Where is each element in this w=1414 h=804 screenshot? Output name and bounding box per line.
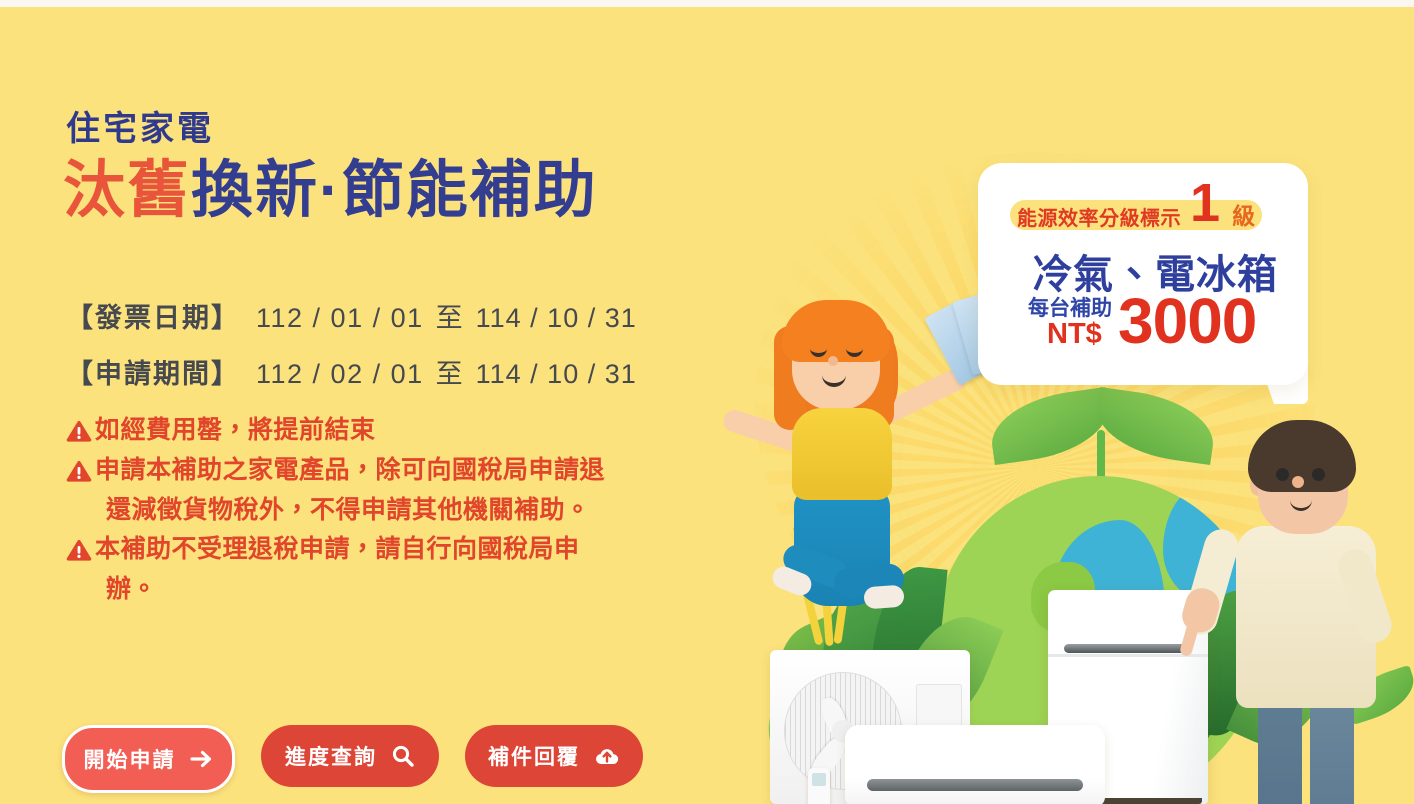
date-info-block: 【發票日期】112 / 01 / 01至114 / 10 / 31 【申請期間】… bbox=[66, 296, 637, 408]
warning-note-2-text: 申請本補助之家電產品，除可向國稅局申請退 bbox=[95, 453, 605, 489]
warning-triangle-icon bbox=[66, 539, 92, 562]
invoice-date-start: 112 / 01 / 01 bbox=[256, 303, 424, 333]
warning-note-3: 本補助不受理退稅申請，請自行向國稅局申 bbox=[66, 532, 726, 568]
page-title: 汰舊換新·節能補助 bbox=[63, 158, 598, 223]
page-title-navy: 換新·節能補助 bbox=[191, 156, 598, 225]
warning-note-2: 申請本補助之家電產品，除可向國稅局申請退 bbox=[66, 453, 726, 489]
application-period-label: 【申請期間】 bbox=[66, 359, 240, 389]
application-period-start: 112 / 02 / 01 bbox=[256, 359, 424, 389]
search-icon bbox=[391, 744, 415, 768]
start-application-label: 開始申請 bbox=[84, 744, 176, 774]
arrow-right-icon bbox=[190, 749, 214, 769]
supplement-reply-button[interactable]: 補件回覆 bbox=[465, 725, 643, 787]
invoice-date-row: 【發票日期】112 / 01 / 01至114 / 10 / 31 bbox=[66, 296, 637, 335]
cloud-upload-icon bbox=[594, 745, 620, 767]
standing-man-illustration bbox=[1198, 416, 1414, 804]
supplement-reply-label: 補件回覆 bbox=[488, 741, 580, 771]
warning-note-3-continued: 辦。 bbox=[66, 572, 726, 608]
page-title-red: 汰舊 bbox=[63, 156, 191, 225]
illustration-scene bbox=[700, 0, 1414, 804]
air-conditioner-indoor-unit bbox=[845, 725, 1105, 804]
warning-note-2-continued-text: 還減徵貨物稅外，不得申請其他機關補助。 bbox=[106, 493, 591, 529]
progress-inquiry-button[interactable]: 進度查詢 bbox=[261, 725, 439, 787]
energy-grade-label: 能源效率分級標示 bbox=[1017, 202, 1181, 231]
warning-triangle-icon bbox=[66, 460, 92, 483]
banner-stage: 能源效率分級標示 1 級 冷氣、電冰箱 每台補助 NT$ 3000 住宅家電 汰… bbox=[0, 0, 1414, 804]
warning-note-2-continued: 還減徵貨物稅外，不得申請其他機關補助。 bbox=[66, 493, 726, 529]
start-application-button[interactable]: 開始申請 bbox=[62, 725, 235, 793]
invoice-date-separator: 至 bbox=[436, 303, 464, 333]
energy-grade-number: 1 bbox=[1190, 176, 1220, 230]
application-period-end: 114 / 10 / 31 bbox=[476, 359, 637, 389]
action-button-row: 開始申請 進度查詢 補件回覆 bbox=[62, 725, 643, 793]
invoice-date-end: 114 / 10 / 31 bbox=[476, 303, 637, 333]
application-period-row: 【申請期間】112 / 02 / 01至114 / 10 / 31 bbox=[66, 352, 637, 391]
warning-triangle-icon bbox=[66, 420, 92, 443]
currency-label: NT$ bbox=[1047, 318, 1102, 351]
warning-note-3-continued-text: 辦。 bbox=[106, 572, 157, 608]
top-white-strip bbox=[0, 0, 1414, 7]
subsidy-amount: 3000 bbox=[1118, 289, 1256, 353]
page-kicker: 住宅家電 bbox=[66, 101, 214, 150]
application-period-separator: 至 bbox=[436, 359, 464, 389]
warning-notes: 如經費用罄，將提前結束 申請本補助之家電產品，除可向國稅局申請退 還減徵貨物稅外… bbox=[66, 413, 726, 612]
invoice-date-label: 【發票日期】 bbox=[66, 303, 240, 333]
warning-note-1-text: 如經費用罄，將提前結束 bbox=[95, 413, 376, 449]
warning-note-3-text: 本補助不受理退稅申請，請自行向國稅局申 bbox=[95, 532, 580, 568]
energy-grade-unit: 級 bbox=[1232, 205, 1255, 228]
progress-inquiry-label: 進度查詢 bbox=[285, 741, 377, 771]
refrigerator-handle bbox=[1064, 644, 1192, 653]
warning-note-1: 如經費用罄，將提前結束 bbox=[66, 413, 726, 449]
ac-remote-control bbox=[808, 768, 830, 804]
